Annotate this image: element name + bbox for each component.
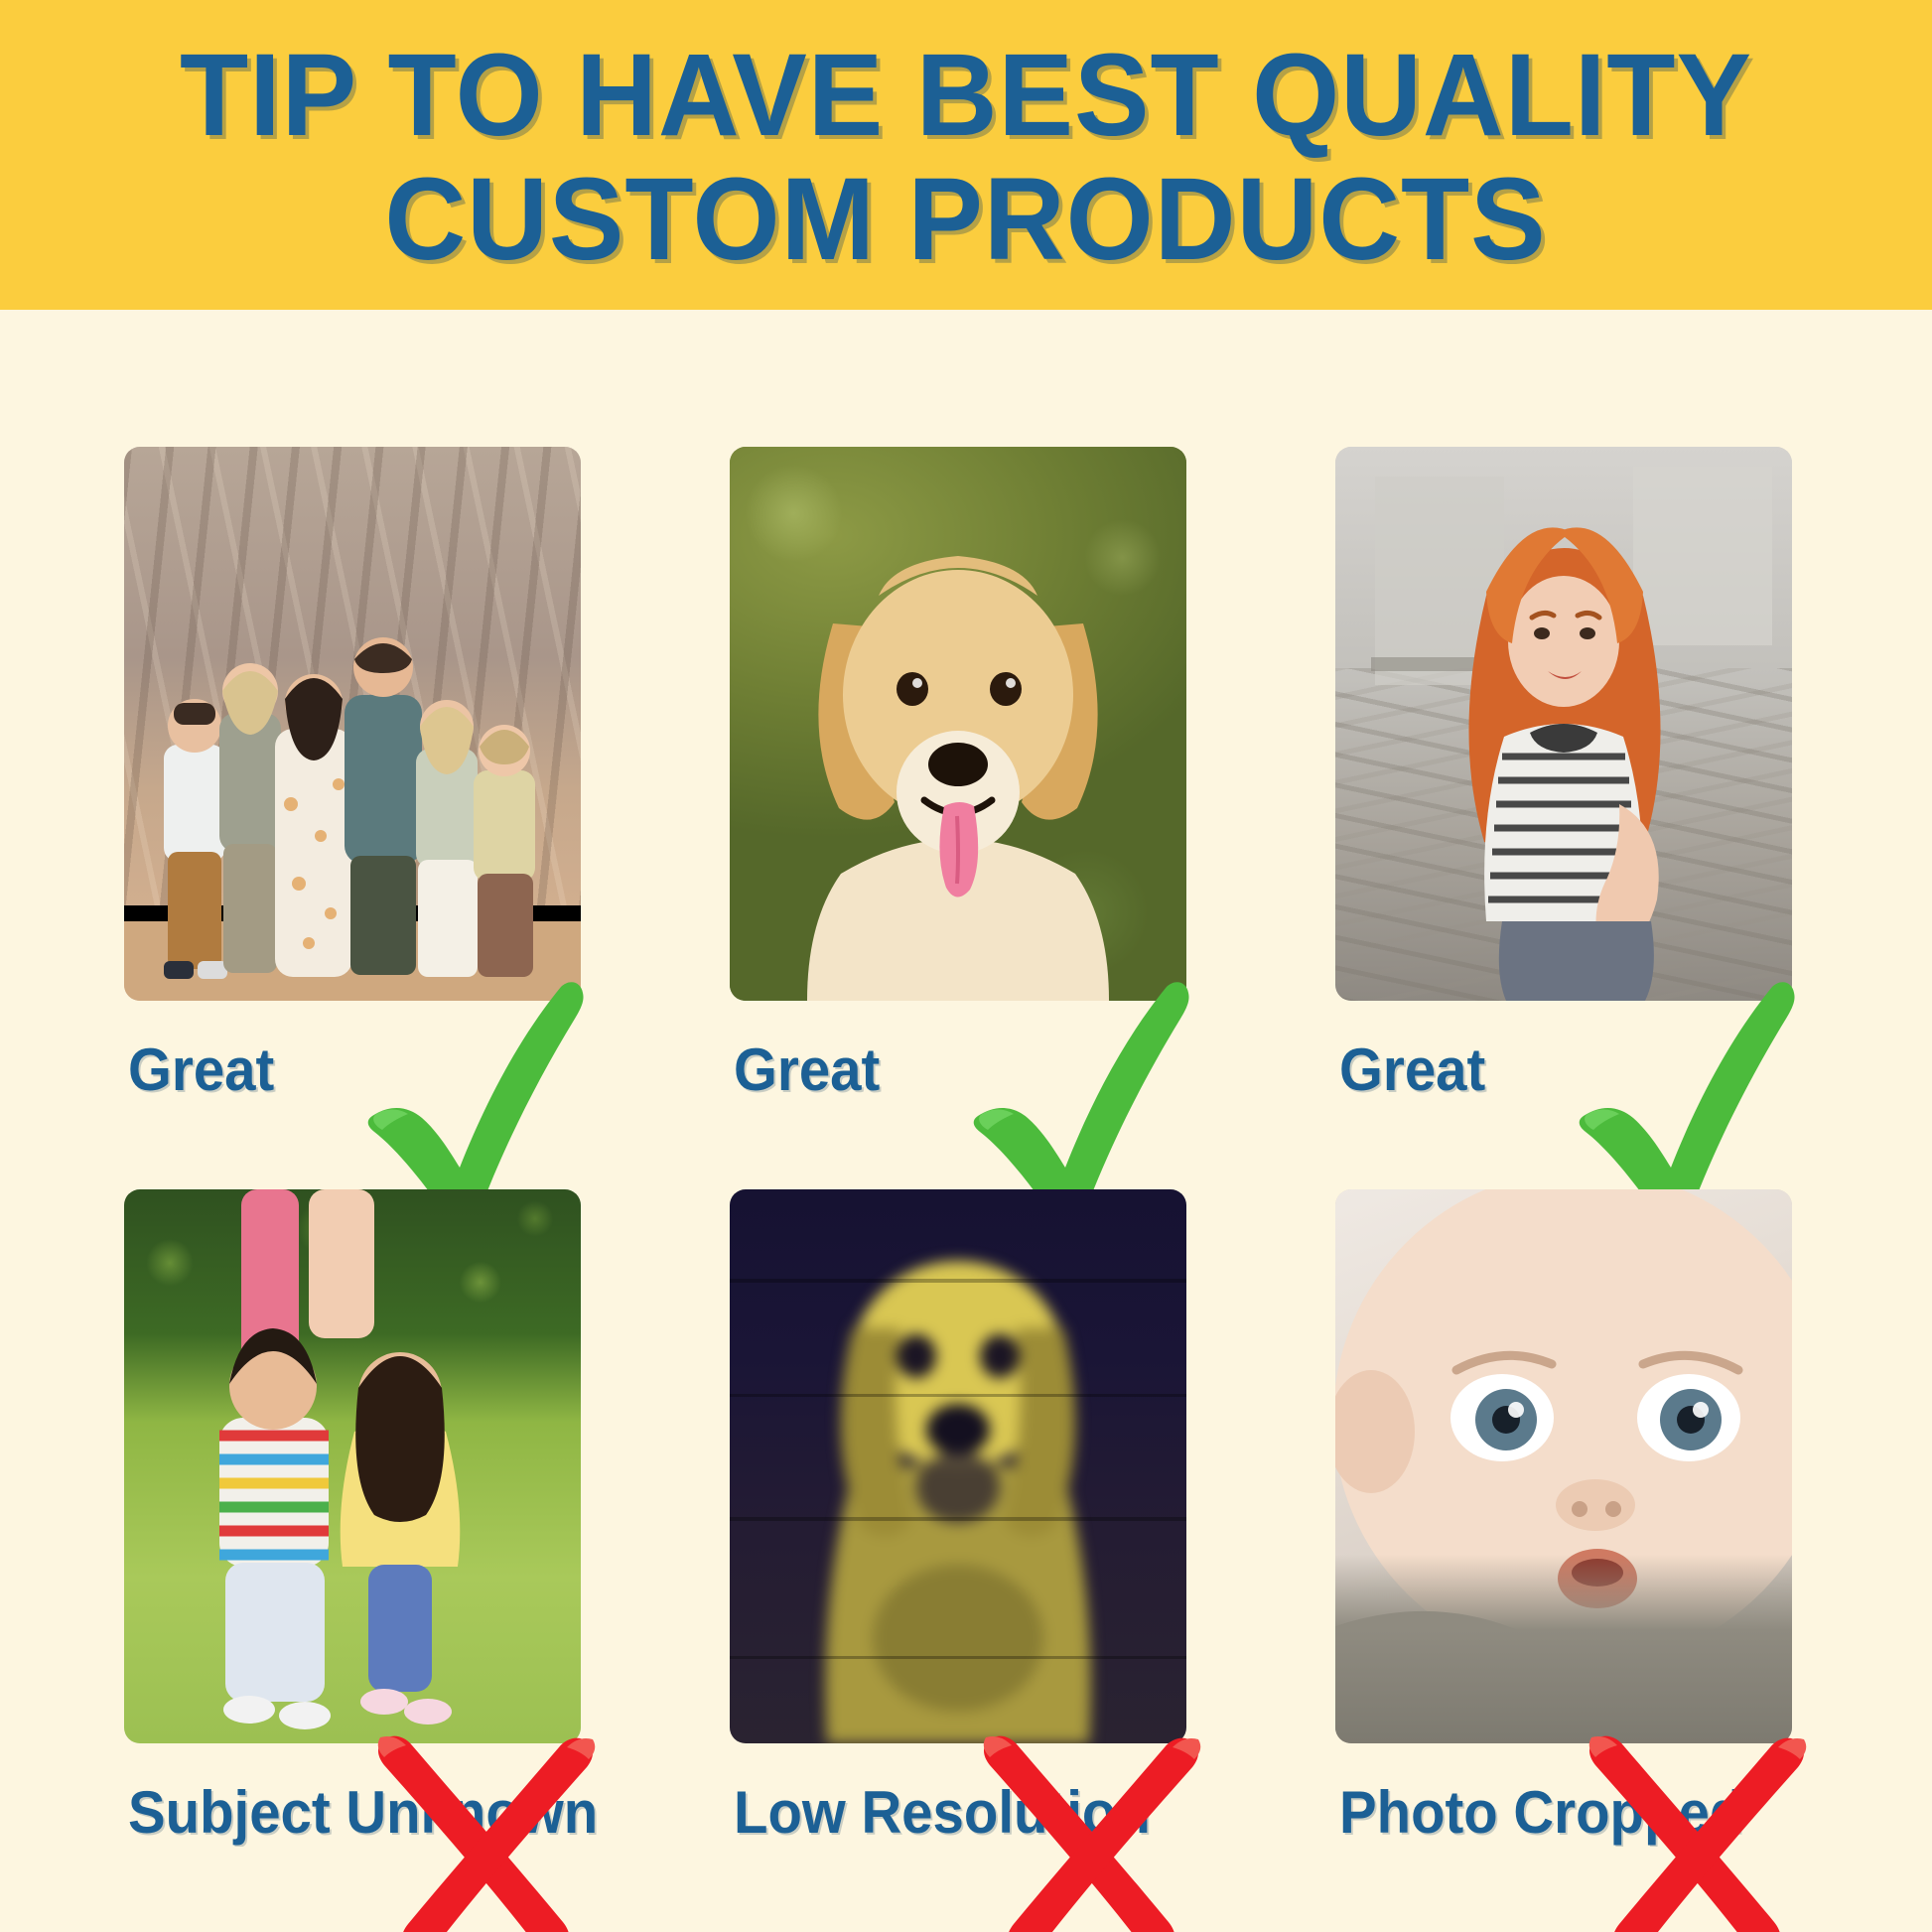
photo-lowres-noise — [730, 1189, 1186, 1743]
good-examples-row: Great — [124, 447, 1792, 1140]
photo-cropped-baby — [1335, 1189, 1792, 1743]
example-card-redhead-woman: Great — [1335, 447, 1792, 1140]
example-card-family: Great — [124, 447, 581, 1140]
header-banner: TIP TO HAVE BEST QUALITY CUSTOM PRODUCTS — [0, 0, 1932, 310]
photo-family-figures — [124, 447, 581, 1001]
photo-redhead-woman — [1335, 447, 1792, 1001]
example-label: Subject Unknown — [128, 1783, 598, 1843]
example-label: Low Resolution — [734, 1783, 1151, 1843]
header-title-line1: TIP TO HAVE BEST QUALITY — [180, 34, 1752, 158]
example-card-lowres-dog: Low Resolution — [730, 1189, 1186, 1882]
example-card-children-running: Subject Unknown — [124, 1189, 581, 1882]
example-label: Great — [128, 1040, 274, 1100]
example-label: Great — [734, 1040, 880, 1100]
example-card-golden-retriever: Great — [730, 447, 1186, 1140]
photo-children-running — [124, 1189, 581, 1743]
example-card-cropped-baby: Photo Cropped — [1335, 1189, 1792, 1882]
photo-children-figures — [124, 1189, 581, 1743]
photo-woman-figure — [1335, 447, 1792, 1001]
example-label: Great — [1339, 1040, 1485, 1100]
photo-golden-retriever — [730, 447, 1186, 1001]
label-row-lowres-dog: Low Resolution — [730, 1743, 1186, 1882]
photo-dog-figure — [730, 447, 1186, 1001]
label-row-cropped-baby: Photo Cropped — [1335, 1743, 1792, 1882]
photo-family — [124, 447, 581, 1001]
label-row-children-running: Subject Unknown — [124, 1743, 581, 1882]
photo-lowres-dog — [730, 1189, 1186, 1743]
header-title-line2: CUSTOM PRODUCTS — [385, 158, 1547, 282]
label-row-family: Great — [124, 1001, 581, 1140]
examples-board: Great — [0, 310, 1932, 1932]
bad-examples-row: Subject Unknown — [124, 1189, 1792, 1882]
example-label: Photo Cropped — [1339, 1783, 1743, 1843]
label-row-golden-retriever: Great — [730, 1001, 1186, 1140]
label-row-redhead-woman: Great — [1335, 1001, 1792, 1140]
